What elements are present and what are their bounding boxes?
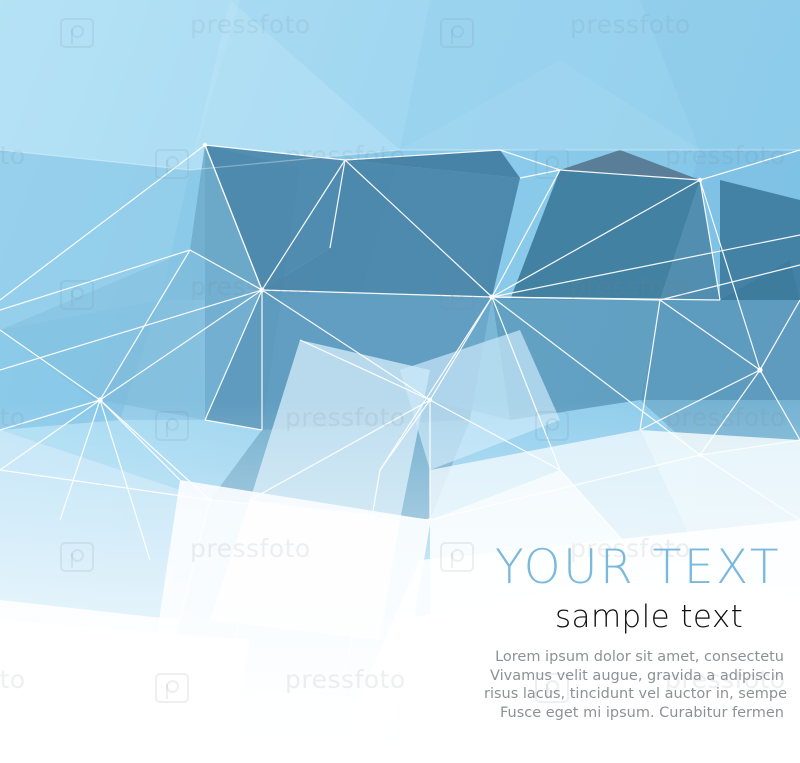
poster-canvas: pressfotopressfotopressfotopressfotopres… xyxy=(0,0,800,763)
sky-facets xyxy=(0,0,800,170)
low-poly-background-artwork xyxy=(0,0,800,763)
